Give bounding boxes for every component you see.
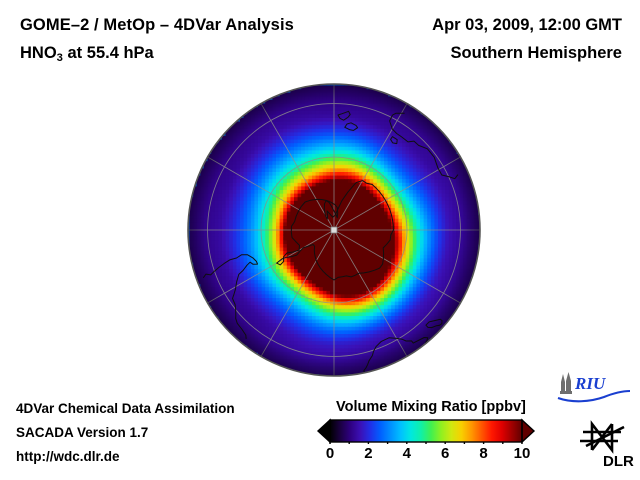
cologne-cathedral-icon (560, 372, 572, 394)
colorbar-tick-8: 8 (479, 445, 487, 462)
dlr-logo-graphic: DLR (572, 414, 636, 470)
riu-logo: RIU (556, 371, 634, 403)
footer-line-1: 4DVar Chemical Data Assimilation (16, 401, 235, 416)
dlr-mark-icon (580, 424, 624, 450)
colorbar (316, 418, 536, 444)
date-time-label: Apr 03, 2009, 12:00 GMT (432, 16, 622, 35)
region-label: Southern Hemisphere (451, 44, 622, 63)
colorbar-title: Volume Mixing Ratio [ppbv] (336, 399, 526, 415)
south-pole-marker (331, 227, 337, 233)
colorbar-tick-2: 2 (364, 445, 372, 462)
dlr-wordmark: DLR (603, 453, 634, 470)
colorbar-min-arrow (318, 420, 330, 442)
colorbar-max-arrow (522, 420, 534, 442)
species-formula-prefix: HNO (20, 44, 57, 62)
riu-wordmark: RIU (574, 374, 606, 393)
colorbar-tick-0: 0 (326, 445, 334, 462)
riu-logo-graphic: RIU (556, 371, 634, 403)
colorbar-tick-6: 6 (441, 445, 449, 462)
polar-map (186, 82, 482, 378)
species-pressure-level: at 55.4 hPa (63, 44, 154, 62)
colorbar-graphic (316, 418, 536, 444)
species-title: HNO3 at 55.4 hPa (20, 44, 154, 63)
colorbar-tick-labels: 0246810 (316, 445, 536, 467)
dlr-logo: DLR (572, 414, 636, 470)
footer-line-3: http://wdc.dlr.de (16, 449, 120, 464)
colorbar-tick-10: 10 (514, 445, 531, 462)
footer-line-2: SACADA Version 1.7 (16, 425, 148, 440)
species-formula-subscript: 3 (57, 52, 63, 64)
colorbar-tick-4: 4 (403, 445, 411, 462)
orthographic-globe (186, 82, 482, 378)
instrument-title: GOME–2 / MetOp – 4DVar Analysis (20, 16, 294, 35)
colorbar-gradient (330, 420, 522, 442)
